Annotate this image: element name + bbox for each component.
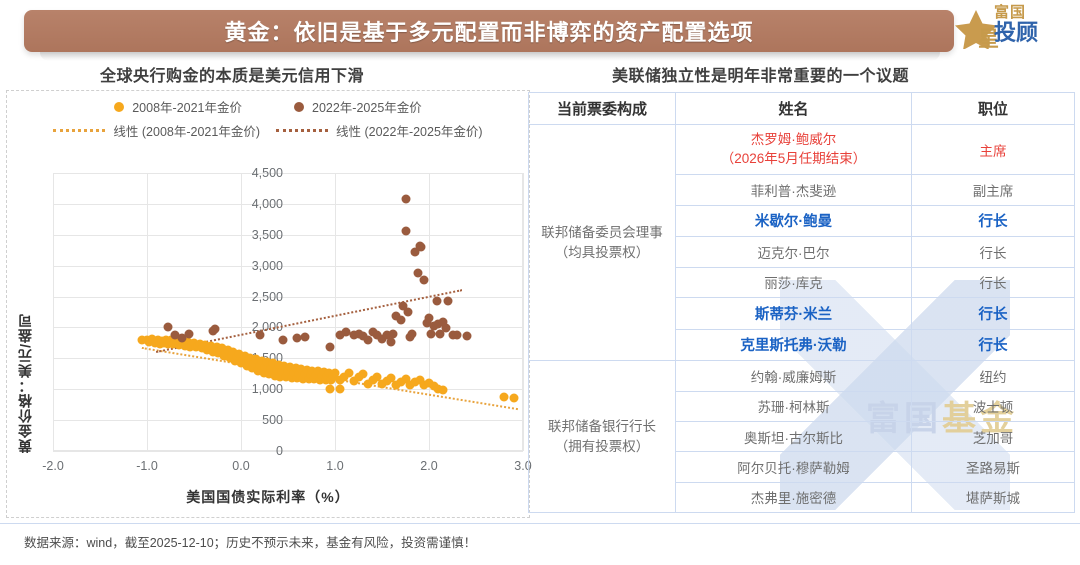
x-gridline (429, 173, 430, 451)
y-tick-label: 3,000 (241, 259, 283, 273)
x-gridline (335, 173, 336, 451)
footer-divider (0, 523, 1080, 524)
table-cell-name: 克里斯托弗·沃勒 (676, 329, 912, 361)
group-label-line2: （均具投票权） (533, 243, 671, 263)
y-gridline (53, 327, 523, 328)
table-cell-name: 斯蒂芬·米兰 (676, 297, 912, 329)
data-point (163, 323, 172, 332)
legend-dash-trend1 (53, 129, 105, 132)
legend-marker-series1 (114, 102, 124, 112)
data-point (500, 392, 509, 401)
table-cell-name: 杰弗里·施密德 (676, 482, 912, 512)
table-cell-position: 行长 (912, 267, 1075, 297)
data-point (462, 332, 471, 341)
y-gridline (53, 389, 523, 390)
table-row: 联邦储备银行行长（拥有投票权）约翰·威廉姆斯纽约 (529, 361, 1075, 391)
chart-plot-area: 05001,0001,5002,0002,5003,0003,5004,0004… (53, 173, 523, 451)
y-gridline (53, 173, 523, 174)
data-point (439, 385, 448, 394)
data-point (300, 333, 309, 342)
data-point (453, 331, 462, 340)
data-point (417, 243, 426, 252)
data-point (279, 335, 288, 344)
data-point (359, 370, 368, 379)
chart-legend: 2008年-2021年金价 2022年-2025年金价 线性 (2008年-20… (7, 97, 529, 140)
x-gridline (523, 173, 524, 451)
title-banner: 黄金：依旧是基于多元配置而非博弈的资产配置选项 (24, 10, 954, 52)
table-header-row: 当前票委构成 姓名 职位 (529, 93, 1075, 125)
logo-text-bottom: 投顾 (994, 21, 1072, 44)
legend-label-trend1: 线性 (2008年-2021年金价) (113, 121, 260, 140)
table-cell-name: 迈克尔·巴尔 (676, 237, 912, 267)
data-point (335, 384, 344, 393)
data-point (326, 342, 335, 351)
slide-root: 富国基金 黄金：依旧是基于多元配置而非博弈的资产配置选项 星 富国 投顾 全球央… (0, 0, 1080, 565)
y-tick-label: 500 (241, 413, 283, 427)
data-point (443, 297, 452, 306)
group-label-line1: 联邦储备银行行长 (533, 417, 671, 437)
data-point (389, 329, 398, 338)
y-tick-label: 2,500 (241, 290, 283, 304)
data-point (401, 227, 410, 236)
logo-text-top: 富国 (994, 5, 1072, 21)
page-title: 黄金：依旧是基于多元配置而非博弈的资产配置选项 (224, 15, 753, 47)
data-point (509, 393, 518, 402)
table-cell-position: 行长 (912, 329, 1075, 361)
legend-label-series1: 2008年-2021年金价 (132, 97, 242, 116)
col-header-position: 职位 (912, 93, 1075, 125)
x-gridline (53, 173, 54, 451)
name-line1: 杰罗姆·鲍威尔 (680, 131, 907, 149)
fomc-table-wrap: 当前票委构成 姓名 职位 联邦储备委员会理事（均具投票权）杰罗姆·鲍威尔（202… (528, 92, 1074, 513)
data-point (396, 316, 405, 325)
col-header-name: 姓名 (676, 93, 912, 125)
data-point (408, 329, 417, 338)
table-cell-name: 杰罗姆·鲍威尔（2026年5月任期结束） (676, 125, 912, 175)
logo-text: 富国 投顾 (994, 5, 1072, 44)
data-point (432, 296, 441, 305)
right-section-header: 美联储独立性是明年非常重要的一个议题 (612, 62, 909, 86)
table-cell-position: 副主席 (912, 175, 1075, 205)
chart-x-axis-label: 美国国债实际利率（%） (7, 487, 529, 507)
legend-item-trend1: 线性 (2008年-2021年金价) (53, 121, 260, 140)
data-point (425, 313, 434, 322)
footer-note: 数据来源：wind，截至2025-12-10；历史不预示未来，基金有风险，投资需… (24, 532, 476, 551)
x-tick-label: 0.0 (232, 459, 249, 473)
table-cell-position: 行长 (912, 205, 1075, 237)
table-cell-name: 苏珊·柯林斯 (676, 391, 912, 421)
table-group-label: 联邦储备银行行长（拥有投票权） (529, 361, 676, 513)
y-gridline (53, 235, 523, 236)
y-gridline (53, 266, 523, 267)
table-cell-name: 约翰·威廉姆斯 (676, 361, 912, 391)
x-gridline (241, 173, 242, 451)
table-cell-name: 菲利普·杰斐逊 (676, 175, 912, 205)
group-label-line1: 联邦储备委员会理事 (533, 223, 671, 243)
data-point (363, 336, 372, 345)
table-cell-position: 主席 (912, 125, 1075, 175)
table-group-label: 联邦储备委员会理事（均具投票权） (529, 125, 676, 361)
data-point (210, 324, 219, 333)
table-cell-position: 行长 (912, 297, 1075, 329)
table-cell-name: 丽莎·库克 (676, 267, 912, 297)
table-cell-position: 纽约 (912, 361, 1075, 391)
legend-marker-series2 (294, 102, 304, 112)
x-tick-label: -2.0 (42, 459, 64, 473)
data-point (401, 194, 410, 203)
table-cell-position: 波士顿 (912, 391, 1075, 421)
fomc-table: 当前票委构成 姓名 职位 联邦储备委员会理事（均具投票权）杰罗姆·鲍威尔（202… (528, 92, 1075, 513)
name-line2: （2026年5月任期结束） (680, 150, 907, 168)
left-section-header: 全球央行购金的本质是美元信用下滑 (100, 62, 364, 86)
y-tick-label: 4,500 (241, 166, 283, 180)
y-tick-label: 1,000 (241, 382, 283, 396)
data-point (420, 276, 429, 285)
table-cell-position: 芝加哥 (912, 421, 1075, 451)
plot-frame (53, 173, 523, 451)
legend-item-trend2: 线性 (2022年-2025年金价) (276, 121, 483, 140)
table-body: 联邦储备委员会理事（均具投票权）杰罗姆·鲍威尔（2026年5月任期结束）主席菲利… (529, 125, 1075, 513)
table-cell-name: 奥斯坦·古尔斯比 (676, 421, 912, 451)
x-tick-label: -1.0 (136, 459, 158, 473)
chart-y-axis-label: 黄金价格：美元/盎司 (15, 313, 35, 453)
data-point (404, 308, 413, 317)
x-gridline (147, 173, 148, 451)
scatter-chart-card: 2008年-2021年金价 2022年-2025年金价 线性 (2008年-20… (6, 90, 530, 518)
legend-dash-trend2 (276, 129, 328, 132)
y-gridline (53, 451, 523, 452)
y-tick-label: 3,500 (241, 228, 283, 242)
table-row: 联邦储备委员会理事（均具投票权）杰罗姆·鲍威尔（2026年5月任期结束）主席 (529, 125, 1075, 175)
table-cell-position: 圣路易斯 (912, 452, 1075, 482)
y-gridline (53, 297, 523, 298)
legend-label-trend2: 线性 (2022年-2025年金价) (336, 121, 483, 140)
x-tick-label: 2.0 (420, 459, 437, 473)
y-tick-label: 0 (241, 444, 283, 458)
x-tick-label: 1.0 (326, 459, 343, 473)
y-tick-label: 4,000 (241, 197, 283, 211)
legend-item-series2: 2022年-2025年金价 (294, 97, 422, 116)
y-gridline (53, 358, 523, 359)
table-cell-position: 行长 (912, 237, 1075, 267)
data-point (387, 338, 396, 347)
data-point (185, 329, 194, 338)
brand-logo: 星 富国 投顾 (952, 3, 1072, 53)
legend-label-series2: 2022年-2025年金价 (312, 97, 422, 116)
data-point (255, 330, 264, 339)
col-header-composition: 当前票委构成 (529, 93, 676, 125)
table-cell-position: 堪萨斯城 (912, 482, 1075, 512)
banner-shadow (40, 52, 940, 61)
table-cell-name: 米歇尔·鲍曼 (676, 205, 912, 237)
y-gridline (53, 420, 523, 421)
data-point (326, 384, 335, 393)
group-label-line2: （拥有投票权） (533, 437, 671, 457)
legend-item-series1: 2008年-2021年金价 (114, 97, 242, 116)
y-gridline (53, 204, 523, 205)
table-cell-name: 阿尔贝托·穆萨勒姆 (676, 452, 912, 482)
